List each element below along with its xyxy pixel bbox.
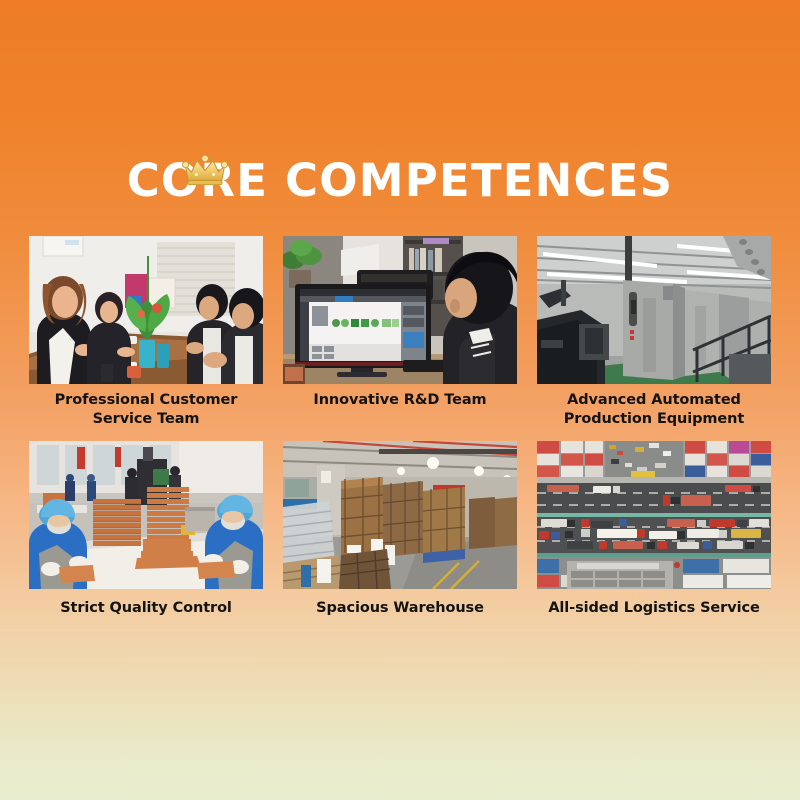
competence-grid: Professional Customer Service Team (29, 236, 771, 618)
logistics-aerial-photo[interactable] (537, 441, 771, 589)
competence-caption: Spacious Warehouse (283, 599, 517, 618)
competence-card-spacious-warehouse[interactable]: Spacious Warehouse (283, 441, 517, 618)
printing-press-photo[interactable] (537, 236, 771, 384)
competence-caption: Advanced Automated Production Equipment (537, 391, 771, 429)
competence-caption: Innovative R&D Team (283, 391, 517, 410)
competence-card-advanced-automated-production-equipment[interactable]: Advanced Automated Production Equipment (537, 236, 771, 429)
meeting-room-photo[interactable] (29, 236, 263, 384)
competence-caption: All-sided Logistics Service (537, 599, 771, 618)
competence-card-innovative-rd-team[interactable]: Innovative R&D Team (283, 236, 517, 429)
page-title: CORE COMPETENCES (0, 150, 800, 212)
competence-row-top: Professional Customer Service Team (29, 236, 771, 429)
core-competences-banner: CORE COMPETENCES (0, 0, 800, 800)
banner-header: CORE COMPETENCES (0, 150, 800, 212)
warehouse-photo[interactable] (283, 441, 517, 589)
rd-designer-photo[interactable] (283, 236, 517, 384)
competence-card-strict-quality-control[interactable]: Strict Quality Control (29, 441, 263, 618)
quality-control-photo[interactable] (29, 441, 263, 589)
crown-icon (182, 152, 228, 186)
competence-card-professional-customer-service-team[interactable]: Professional Customer Service Team (29, 236, 263, 429)
competence-caption: Strict Quality Control (29, 599, 263, 618)
competence-card-all-sided-logistics-service[interactable]: All-sided Logistics Service (537, 441, 771, 618)
competence-row-bottom: Strict Quality Control (29, 441, 771, 618)
competence-caption: Professional Customer Service Team (29, 391, 263, 429)
